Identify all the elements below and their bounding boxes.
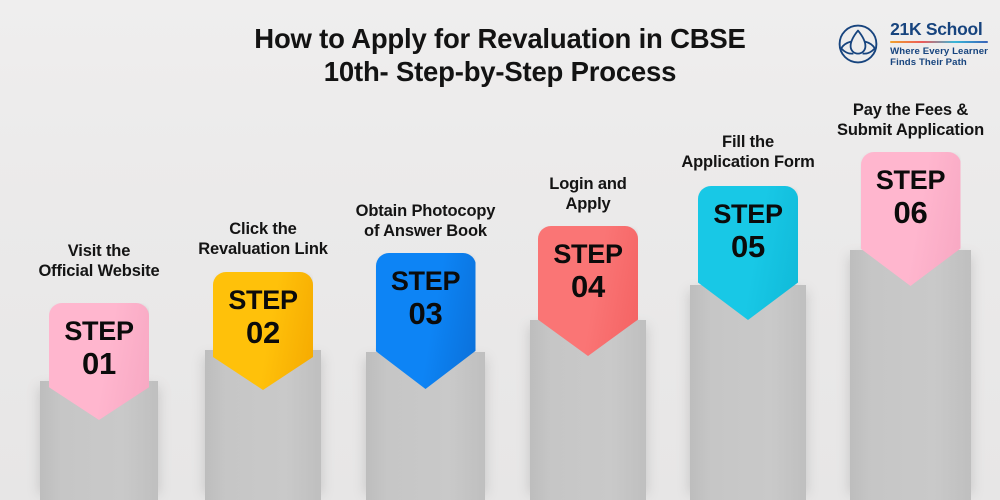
step-number-label: 06 [894, 196, 928, 229]
step-caption-line-2: of Answer Book [364, 222, 487, 240]
step-caption-line-1: Click the [229, 220, 296, 238]
step-caption-line-2: Submit Application [837, 121, 984, 139]
step-column-06[interactable]: STEP06Pay the Fees &Submit Application [850, 0, 971, 500]
step-bar-chart: STEP01Visit theOfficial WebsiteSTEP02Cli… [0, 0, 1000, 500]
step-caption-line-1: Pay the Fees & [853, 101, 968, 119]
step-word-label: STEP [553, 239, 622, 270]
step-caption-line-2: Revaluation Link [198, 240, 328, 258]
step-number-label: 01 [82, 347, 116, 380]
step-caption-line-1: Login and [549, 175, 626, 193]
step-column-04[interactable]: STEP04Login andApply [530, 0, 646, 500]
step-caption-03: Obtain Photocopyof Answer Book [356, 201, 496, 241]
step-number-label: 02 [246, 316, 280, 349]
step-word-label: STEP [713, 199, 782, 230]
step-column-01[interactable]: STEP01Visit theOfficial Website [40, 0, 158, 500]
step-column-02[interactable]: STEP02Click theRevaluation Link [205, 0, 321, 500]
step-caption-line-1: Visit the [68, 242, 131, 260]
step-number-label: 04 [571, 270, 605, 303]
step-caption-05: Fill theApplication Form [681, 132, 814, 172]
step-word-label: STEP [64, 316, 133, 347]
step-column-05[interactable]: STEP05Fill theApplication Form [690, 0, 806, 500]
step-caption-line-2: Application Form [681, 153, 814, 171]
step-word-label: STEP [228, 285, 297, 316]
step-caption-04: Login andApply [549, 174, 626, 214]
step-caption-line-2: Official Website [38, 262, 159, 280]
step-caption-01: Visit theOfficial Website [38, 241, 159, 281]
step-word-label: STEP [391, 266, 460, 297]
step-bar-06 [850, 250, 971, 500]
step-caption-line-1: Fill the [722, 133, 774, 151]
step-caption-line-2: Apply [565, 195, 610, 213]
step-caption-line-1: Obtain Photocopy [356, 202, 496, 220]
step-word-label: STEP [876, 165, 945, 196]
step-caption-02: Click theRevaluation Link [198, 219, 328, 259]
step-caption-06: Pay the Fees &Submit Application [837, 100, 984, 140]
step-number-label: 03 [409, 297, 443, 330]
step-column-03[interactable]: STEP03Obtain Photocopyof Answer Book [366, 0, 485, 500]
step-number-label: 05 [731, 230, 765, 263]
